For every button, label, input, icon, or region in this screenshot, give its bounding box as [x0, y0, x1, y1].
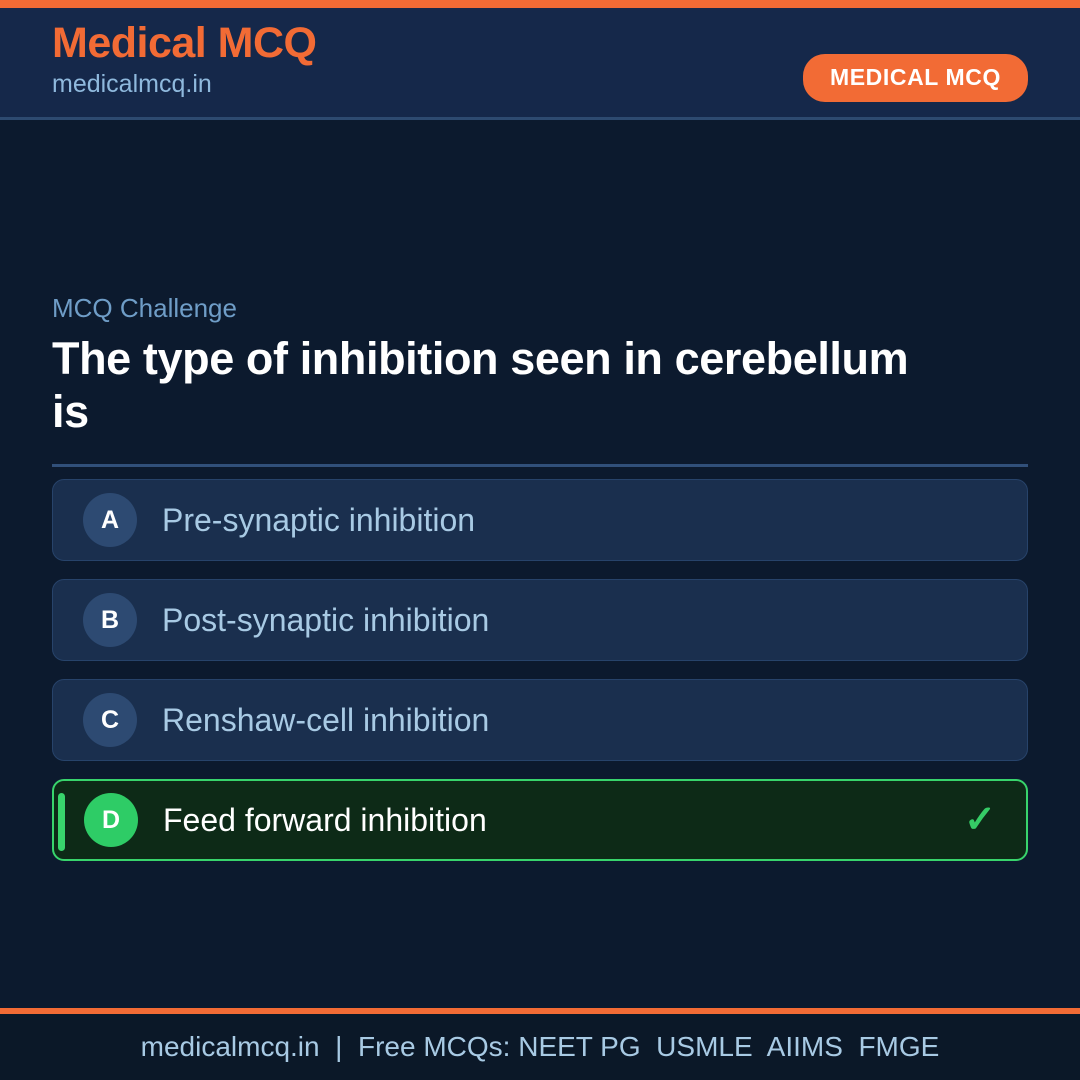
page-header: Medical MCQ medicalmcq.in MEDICAL MCQ	[0, 8, 1080, 120]
status-badge: MEDICAL MCQ	[803, 54, 1028, 102]
brand-subtitle: medicalmcq.in	[52, 69, 317, 99]
divider	[52, 464, 1028, 467]
option-row-d-correct[interactable]: D Feed forward inhibition ✓	[52, 779, 1028, 861]
top-accent-bar	[0, 0, 1080, 8]
checkmark-icon: ✓	[964, 801, 996, 839]
option-letter-badge: C	[83, 693, 137, 747]
option-letter-badge: D	[84, 793, 138, 847]
option-label: Feed forward inhibition	[163, 801, 487, 839]
option-letter-badge: B	[83, 593, 137, 647]
option-label: Renshaw-cell inhibition	[162, 701, 489, 739]
options-list: A Pre-synaptic inhibition B Post-synapti…	[52, 479, 1028, 861]
question-kicker: MCQ Challenge	[52, 293, 1028, 324]
option-row-b[interactable]: B Post-synaptic inhibition	[52, 579, 1028, 661]
footer-text: medicalmcq.in | Free MCQs: NEET PG USMLE…	[141, 1030, 940, 1064]
brand: Medical MCQ medicalmcq.in	[52, 21, 317, 99]
page-title: The type of inhibition seen in cerebellu…	[52, 333, 922, 438]
option-row-a[interactable]: A Pre-synaptic inhibition	[52, 479, 1028, 561]
option-row-c[interactable]: C Renshaw-cell inhibition	[52, 679, 1028, 761]
option-label: Pre-synaptic inhibition	[162, 501, 475, 539]
correct-accent-bar	[58, 793, 65, 851]
page-footer: medicalmcq.in | Free MCQs: NEET PG USMLE…	[0, 1008, 1080, 1080]
option-letter-badge: A	[83, 493, 137, 547]
brand-title: Medical MCQ	[52, 21, 317, 67]
option-label: Post-synaptic inhibition	[162, 601, 489, 639]
question-block: MCQ Challenge The type of inhibition see…	[52, 293, 1028, 467]
